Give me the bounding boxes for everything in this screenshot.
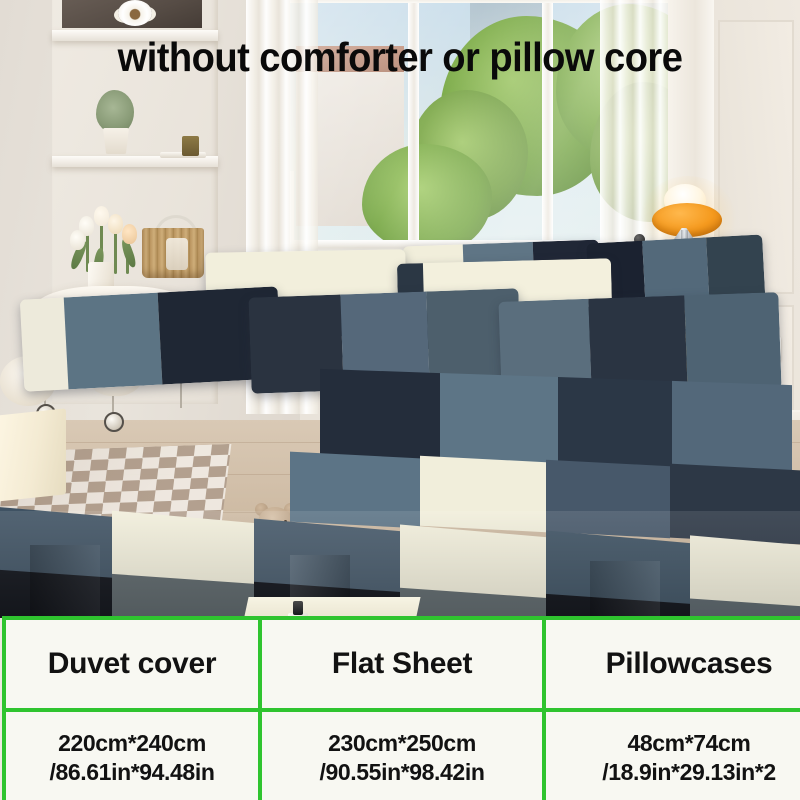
pillowcase-metric: 48cm*74cm (550, 729, 800, 757)
pillowcase-imperial: /18.9in*29.13in*2 (550, 758, 800, 786)
cell-pillowcases-size: 48cm*74cm /18.9in*29.13in*2 (544, 710, 800, 800)
table-header-row: Duvet cover Flat Sheet Pillowcases (4, 618, 800, 710)
table-data-row: 220cm*240cm /86.61in*94.48in 230cm*250cm… (4, 710, 800, 800)
perfume-bottle-cap (293, 601, 303, 615)
duvet-metric: 220cm*240cm (10, 729, 254, 757)
candle-jar (182, 136, 199, 156)
sheet-metric: 230cm*250cm (266, 729, 538, 757)
product-image: without comforter or pillow core Duvet c… (0, 0, 800, 800)
plant-pot (103, 128, 129, 154)
magnolia-flower-icon (118, 0, 152, 26)
cell-duvet-cover-size: 220cm*240cm /86.61in*94.48in (4, 710, 260, 800)
bedroom-scene (0, 0, 800, 618)
sheet-imperial: /90.55in*98.42in (266, 758, 538, 786)
flat-sheet-edge (243, 597, 420, 618)
size-specification-table: Duvet cover Flat Sheet Pillowcases 220cm… (2, 616, 800, 800)
headline-text: without comforter or pillow core (28, 36, 772, 79)
duvet-cover (0, 335, 800, 618)
duvet-imperial: /86.61in*94.48in (10, 758, 254, 786)
header-flat-sheet: Flat Sheet (260, 618, 544, 710)
cell-flat-sheet-size: 230cm*250cm /90.55in*98.42in (260, 710, 544, 800)
plant-foliage (96, 90, 134, 134)
header-duvet-cover: Duvet cover (4, 618, 260, 710)
potted-plant (96, 90, 130, 156)
bed (0, 235, 800, 618)
header-pillowcases: Pillowcases (544, 618, 800, 710)
